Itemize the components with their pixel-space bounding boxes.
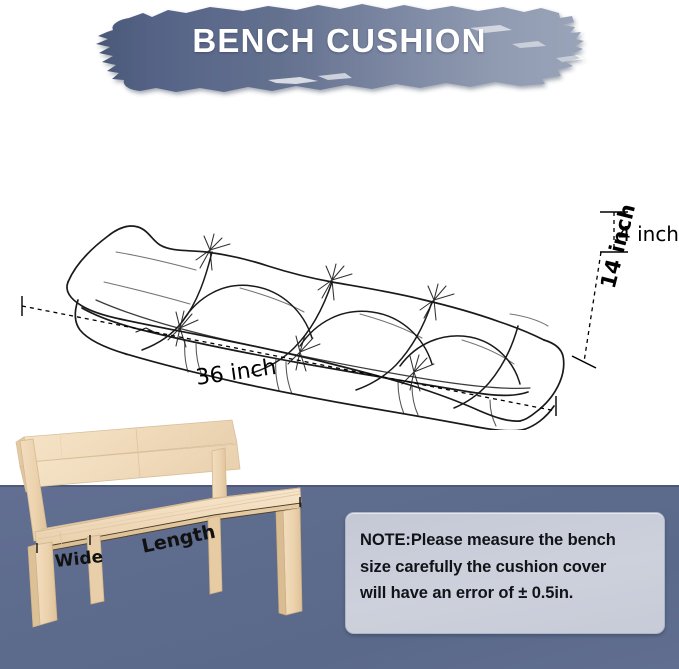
title-banner: BENCH CUSHION	[0, 0, 679, 100]
cushion-illustration	[0, 100, 679, 430]
note-line-2: size carefully the cushion cover	[360, 554, 650, 581]
note-box: NOTE:Please measure the bench size caref…	[345, 512, 665, 634]
product-infographic: BENCH CUSHION	[0, 0, 679, 669]
cushion-line-art	[0, 100, 679, 430]
dimension-lines	[22, 212, 628, 416]
note-line-1: NOTE:Please measure the bench	[360, 527, 650, 554]
note-line-3: will have an error of ± 0.5in.	[360, 580, 650, 607]
page-title: BENCH CUSHION	[0, 22, 679, 60]
